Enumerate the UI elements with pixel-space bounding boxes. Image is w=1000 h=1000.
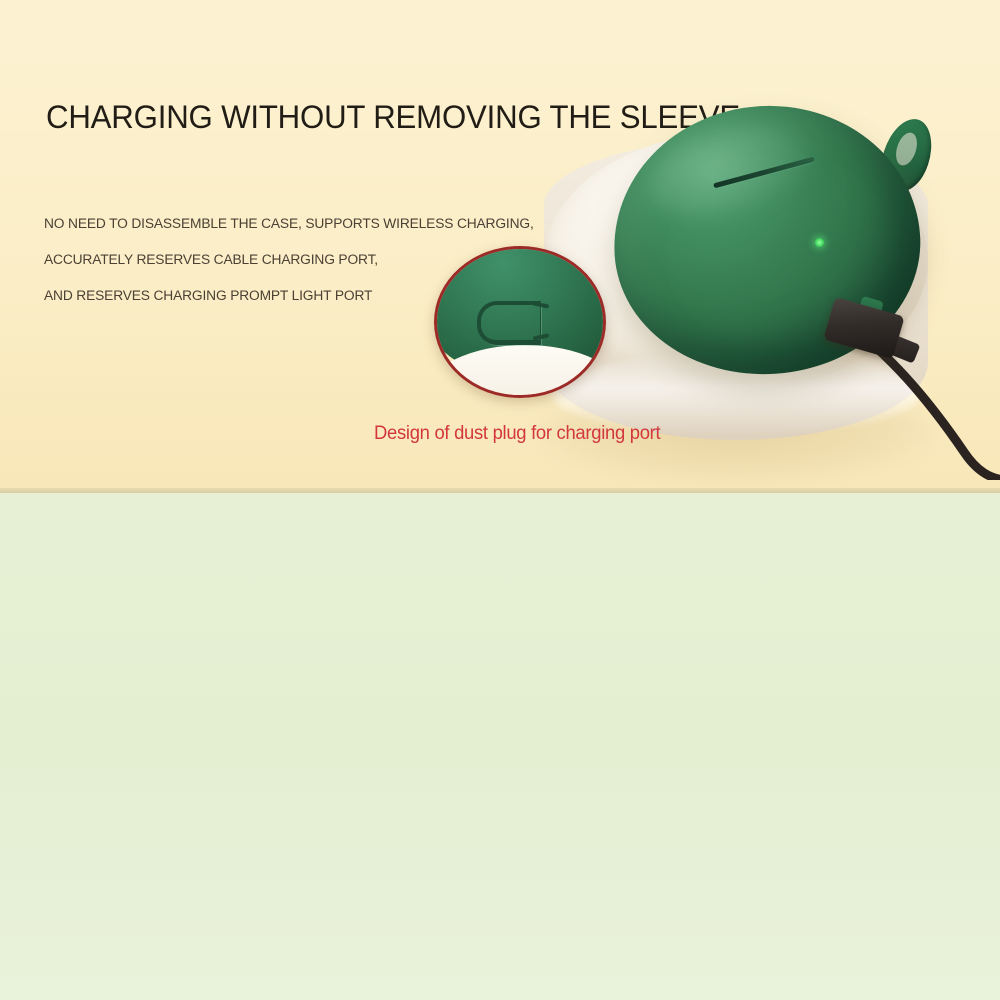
- green-case-led-indicator: [815, 238, 824, 247]
- top-panel-body-line-1: NO NEED TO DISASSEMBLE THE CASE, SUPPORT…: [44, 216, 534, 232]
- top-panel-body-line-2: ACCURATELY RESERVES CABLE CHARGING PORT,: [44, 252, 378, 268]
- top-panel-body-line-3: AND RESERVES CHARGING PROMPT LIGHT PORT: [44, 288, 372, 304]
- dust-plug-icon: [477, 301, 541, 345]
- product-infographic: CHARGING WITHOUT REMOVING THE SLEEVE NO …: [0, 0, 1000, 1000]
- top-panel: CHARGING WITHOUT REMOVING THE SLEEVE NO …: [0, 0, 1000, 492]
- bottom-panel: SUPPORT WIRELESS CHARGING PUT IT DOWN AN…: [0, 493, 1000, 1000]
- dust-plug-caption: Design of dust plug for charging port: [374, 423, 660, 445]
- top-panel-heading: CHARGING WITHOUT REMOVING THE SLEEVE: [46, 99, 740, 136]
- magnifier-callout: [434, 246, 606, 398]
